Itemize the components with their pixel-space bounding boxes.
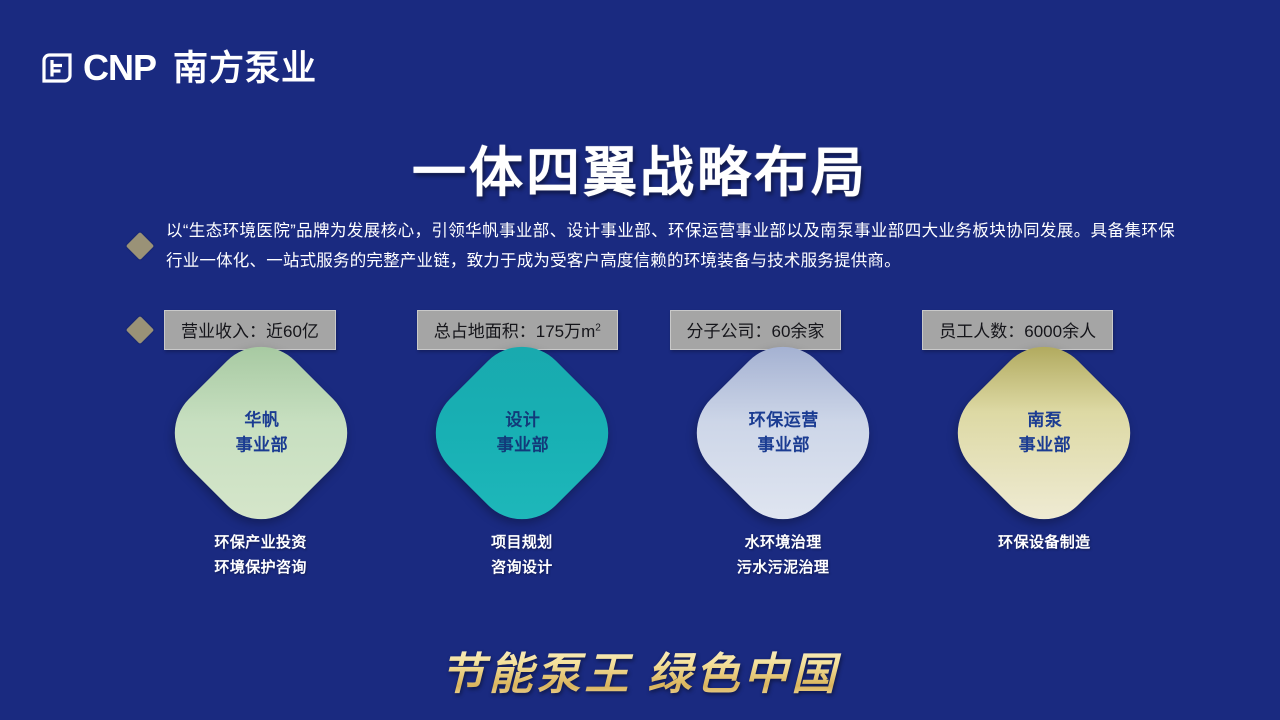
stat-badge-revenue: 营业收入：近60亿	[164, 310, 336, 350]
stat-badge-area: 总占地面积：175万m2	[417, 310, 618, 350]
stat-label-superscript: 2	[595, 322, 601, 333]
logo-text-cn: 南方泵业	[173, 51, 317, 86]
stat-slot: 分子公司：60余家	[670, 310, 923, 350]
stat-badge-subsidiaries: 分子公司：60余家	[670, 310, 842, 350]
business-unit-card-design: 设计 事业部 项目规划 咨询设计	[391, 358, 652, 580]
stats-block: 营业收入：近60亿 总占地面积：175万m2 分子公司：60余家 员工人数：60…	[130, 310, 1175, 350]
intro-paragraph: 以“生态环境医院”品牌为发展核心，引领华帆事业部、设计事业部、环保运营事业部以及…	[166, 216, 1175, 276]
caption-line-1: 水环境治理	[737, 530, 829, 555]
diamond-bullet-icon	[126, 232, 154, 260]
diamond-bullet-icon	[126, 316, 154, 344]
cnp-logo-mark-icon	[40, 51, 74, 85]
logo-text-en: CNP	[83, 50, 156, 86]
intro-block: 以“生态环境医院”品牌为发展核心，引领华帆事业部、设计事业部、环保运营事业部以及…	[130, 216, 1175, 276]
card-caption-env-operation: 水环境治理 污水污泥治理	[737, 530, 829, 580]
unit-suffix: 事业部	[496, 432, 549, 457]
unit-name: 南泵	[1019, 407, 1072, 432]
blob-shape-nanbeng: 南泵 事业部	[938, 327, 1150, 539]
business-unit-card-env-operation: 环保运营 事业部 水环境治理 污水污泥治理	[653, 358, 914, 580]
page-title: 一体四翼战略布局	[0, 128, 1280, 207]
business-unit-cards: 华帆 事业部 环保产业投资 环境保护咨询 设计 事业部 项目规划 咨询设计	[130, 358, 1175, 580]
unit-suffix: 事业部	[235, 432, 287, 457]
unit-name: 华帆	[235, 407, 287, 432]
stat-slot: 总占地面积：175万m2	[417, 310, 670, 350]
stat-list: 营业收入：近60亿 总占地面积：175万m2 分子公司：60余家 员工人数：60…	[164, 310, 1175, 350]
caption-line-2: 咨询设计	[491, 555, 553, 580]
brand-logo: CNP 南方泵业	[40, 50, 317, 86]
business-unit-card-huafan: 华帆 事业部 环保产业投资 环境保护咨询	[130, 358, 391, 580]
unit-suffix: 事业部	[1019, 432, 1072, 457]
blob-shape-design: 设计 事业部	[416, 327, 628, 539]
business-unit-card-nanbeng: 南泵 事业部 环保设备制造	[914, 358, 1175, 580]
blob-label-nanbeng: 南泵 事业部	[1019, 407, 1072, 457]
blob-shape-huafan: 华帆 事业部	[155, 327, 367, 539]
blob-label-huafan: 华帆 事业部	[235, 407, 287, 457]
caption-line-1: 环保设备制造	[998, 530, 1090, 555]
unit-name: 环保运营	[749, 407, 819, 432]
stat-slot: 营业收入：近60亿	[164, 310, 417, 350]
stat-label: 分子公司：60余家	[687, 322, 825, 341]
card-caption-design: 项目规划 咨询设计	[491, 530, 553, 580]
stat-label: 总占地面积：175万m	[434, 322, 596, 341]
stat-label: 员工人数：6000余人	[939, 322, 1096, 341]
stat-badge-employees: 员工人数：6000余人	[922, 310, 1113, 350]
unit-suffix: 事业部	[749, 432, 819, 457]
blob-label-design: 设计 事业部	[496, 407, 549, 457]
caption-line-1: 环保产业投资	[214, 530, 306, 555]
blob-shape-env-operation: 环保运营 事业部	[677, 327, 889, 539]
caption-line-1: 项目规划	[491, 530, 553, 555]
stat-label: 营业收入：近60亿	[181, 322, 319, 341]
stat-slot: 员工人数：6000余人	[922, 310, 1175, 350]
caption-line-2: 污水污泥治理	[737, 555, 829, 580]
footer-slogan: 节能泵王 绿色中国	[0, 638, 1280, 702]
card-caption-nanbeng: 环保设备制造	[998, 530, 1090, 555]
blob-label-env-operation: 环保运营 事业部	[749, 407, 819, 457]
unit-name: 设计	[496, 407, 549, 432]
slide-root: CNP 南方泵业 一体四翼战略布局 以“生态环境医院”品牌为发展核心，引领华帆事…	[0, 0, 1280, 720]
caption-line-2: 环境保护咨询	[214, 555, 306, 580]
card-caption-huafan: 环保产业投资 环境保护咨询	[214, 530, 306, 580]
